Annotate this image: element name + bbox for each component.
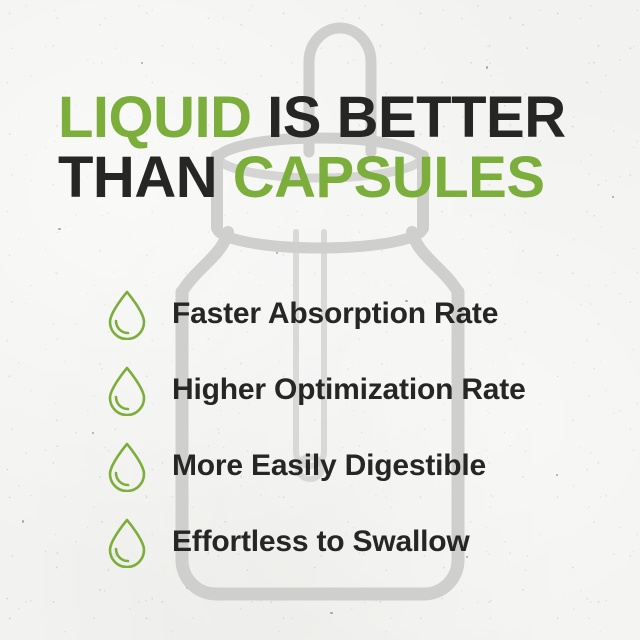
headline-line-1: LIQUID IS BETTER <box>58 88 598 148</box>
paper-fleck <box>330 612 333 614</box>
benefit-label: Effortless to Swallow <box>172 525 470 559</box>
paper-fleck <box>276 252 278 254</box>
headline-phrase-is-better: IS BETTER <box>267 85 565 150</box>
headline-word-capsules: CAPSULES <box>233 145 545 210</box>
droplet-icon <box>104 288 150 340</box>
benefit-item-effortless-to-swallow: Effortless to Swallow <box>104 504 604 580</box>
infographic-canvas: LIQUID IS BETTER THAN CAPSULES Faster Ab… <box>0 0 640 640</box>
paper-fleck <box>612 196 614 198</box>
benefit-item-more-easily-digestible: More Easily Digestible <box>104 428 604 504</box>
droplet-icon <box>104 440 150 492</box>
benefit-label: Higher Optimization Rate <box>172 373 526 407</box>
headline-word-liquid: LIQUID <box>58 85 252 150</box>
benefit-item-higher-optimization-rate: Higher Optimization Rate <box>104 352 604 428</box>
benefit-item-faster-absorption-rate: Faster Absorption Rate <box>104 276 604 352</box>
droplet-icon <box>104 516 150 568</box>
paper-fleck <box>186 586 190 589</box>
headline-word-than: THAN <box>58 145 217 210</box>
headline: LIQUID IS BETTER THAN CAPSULES <box>58 88 598 208</box>
droplet-icon <box>104 364 150 416</box>
benefit-label: Faster Absorption Rate <box>172 297 498 331</box>
paper-fleck <box>141 62 143 64</box>
benefit-label: More Easily Digestible <box>172 449 486 483</box>
paper-fleck <box>486 66 488 69</box>
paper-fleck <box>92 432 94 434</box>
paper-fleck <box>22 520 24 523</box>
paper-fleck <box>58 228 61 230</box>
benefit-list: Faster Absorption Rate Higher Optimizati… <box>104 276 604 580</box>
headline-line-2: THAN CAPSULES <box>58 148 598 208</box>
